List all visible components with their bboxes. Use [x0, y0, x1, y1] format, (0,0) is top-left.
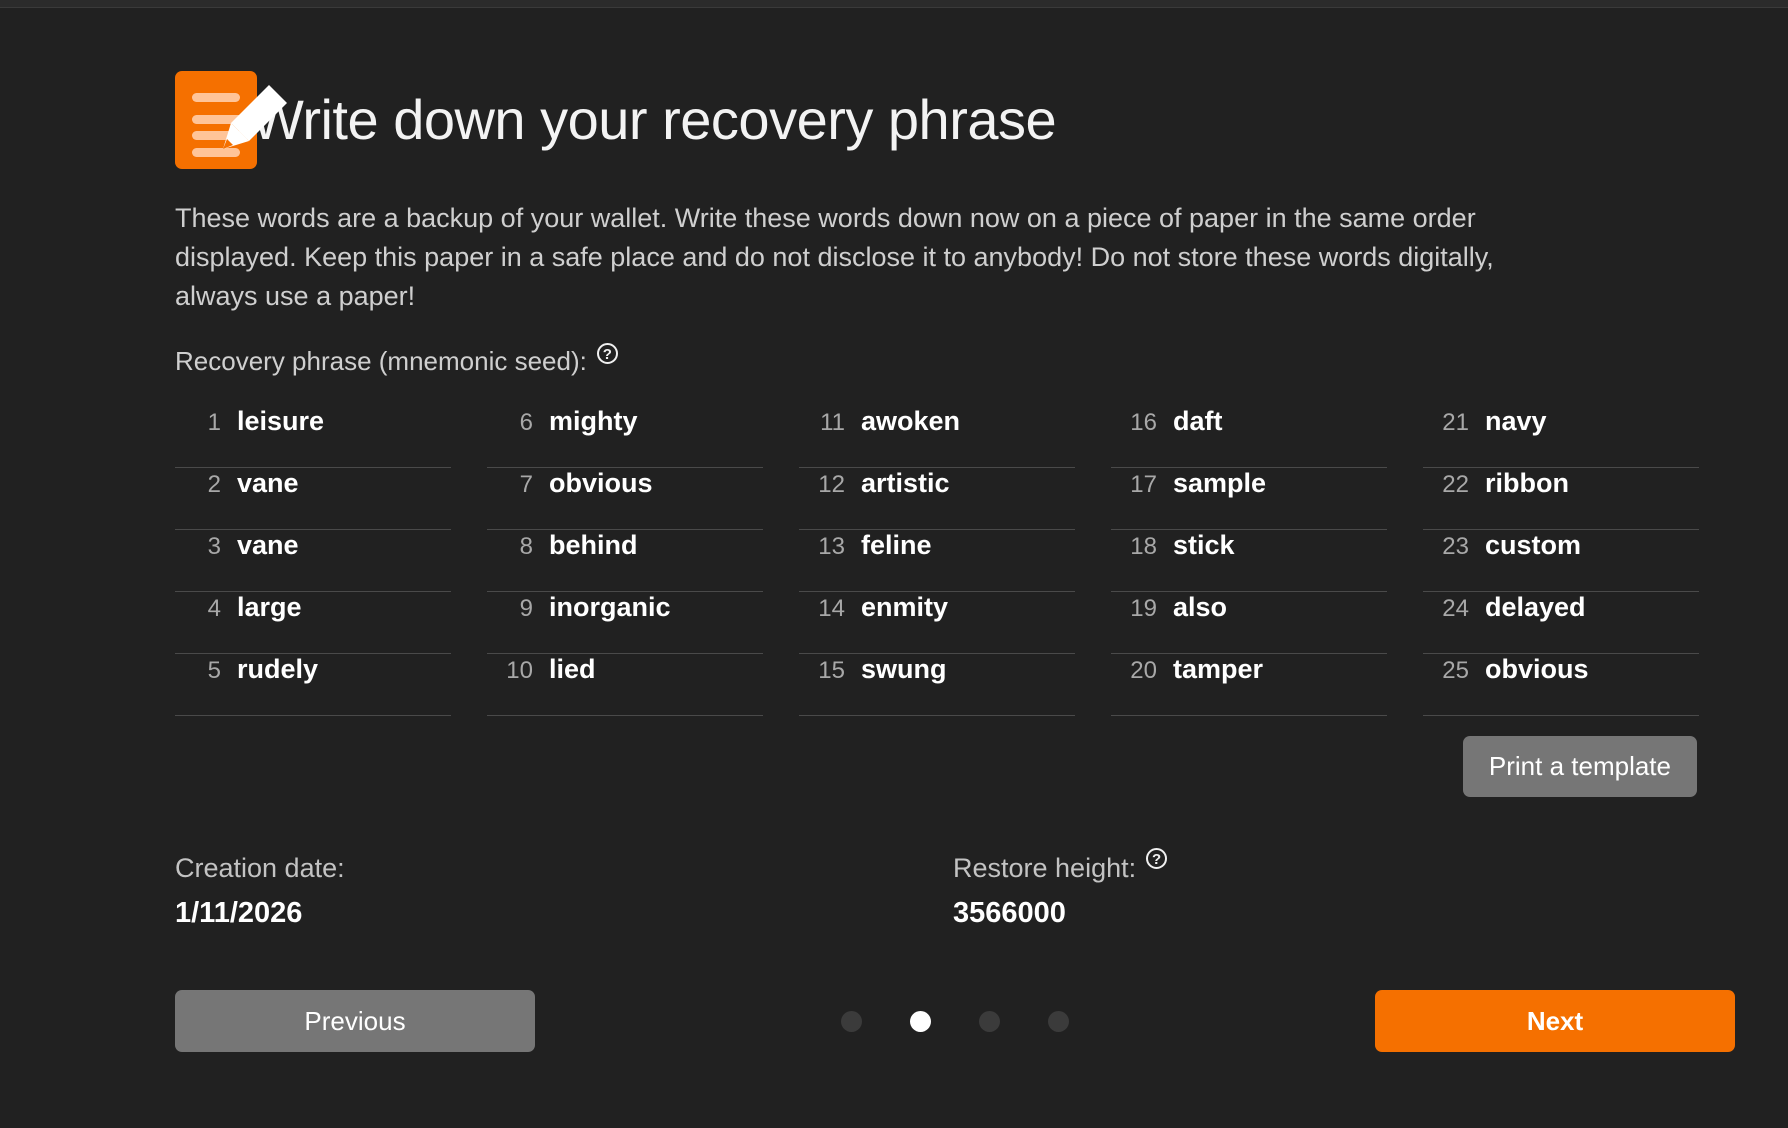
word-value: obvious — [1485, 654, 1589, 685]
pagination-dot-2[interactable] — [910, 1011, 931, 1032]
word-value: lied — [549, 654, 596, 685]
word-value: sample — [1173, 468, 1266, 499]
word-row[interactable]: 3vane — [175, 530, 451, 592]
creation-date-block: Creation date: 1/11/2026 — [175, 851, 953, 930]
word-index: 23 — [1423, 533, 1485, 561]
question-mark-icon[interactable]: ? — [597, 343, 618, 364]
page-description: These words are a backup of your wallet.… — [175, 199, 1575, 316]
word-index: 25 — [1423, 657, 1485, 685]
previous-button[interactable]: Previous — [175, 990, 535, 1052]
pagination-dot-4[interactable] — [1048, 1011, 1069, 1032]
creation-date-value: 1/11/2026 — [175, 897, 953, 930]
word-index: 24 — [1423, 595, 1485, 623]
word-value: mighty — [549, 406, 638, 437]
word-value: artistic — [861, 468, 950, 499]
wallet-metadata: Creation date: 1/11/2026 Restore height:… — [175, 851, 1735, 930]
restore-height-value: 3566000 — [953, 897, 1167, 930]
restore-height-label-row: Restore height: ? — [953, 851, 1167, 885]
word-index: 15 — [799, 657, 861, 685]
word-value: enmity — [861, 592, 948, 623]
word-index: 9 — [487, 595, 549, 623]
word-row[interactable]: 15swung — [799, 654, 1075, 716]
word-index: 2 — [175, 471, 237, 499]
word-index: 16 — [1111, 409, 1173, 437]
word-index: 17 — [1111, 471, 1173, 499]
write-document-icon — [175, 71, 257, 169]
word-row[interactable]: 11awoken — [799, 406, 1075, 468]
page-title: Write down your recovery phrase — [251, 91, 1056, 149]
word-row[interactable]: 10lied — [487, 654, 763, 716]
word-index: 7 — [487, 471, 549, 499]
word-value: inorganic — [549, 592, 671, 623]
word-index: 14 — [799, 595, 861, 623]
word-row[interactable]: 13feline — [799, 530, 1075, 592]
word-index: 19 — [1111, 595, 1173, 623]
wallet-wizard-window: Write down your recovery phrase These wo… — [0, 0, 1788, 1128]
word-index: 18 — [1111, 533, 1173, 561]
word-value: large — [237, 592, 302, 623]
word-row[interactable]: 9inorganic — [487, 592, 763, 654]
word-value: daft — [1173, 406, 1223, 437]
pencil-icon — [219, 83, 289, 155]
word-row[interactable]: 21navy — [1423, 406, 1699, 468]
word-index: 10 — [487, 657, 549, 685]
creation-date-label: Creation date: — [175, 851, 953, 885]
word-row[interactable]: 23custom — [1423, 530, 1699, 592]
word-row[interactable]: 5rudely — [175, 654, 451, 716]
word-value: delayed — [1485, 592, 1586, 623]
word-index: 6 — [487, 409, 549, 437]
print-template-button[interactable]: Print a template — [1463, 736, 1697, 797]
word-row[interactable]: 2vane — [175, 468, 451, 530]
page-header: Write down your recovery phrase — [175, 68, 1735, 172]
word-index: 3 — [175, 533, 237, 561]
word-value: stick — [1173, 530, 1235, 561]
word-row[interactable]: 16daft — [1111, 406, 1387, 468]
word-value: swung — [861, 654, 947, 685]
word-row[interactable]: 24delayed — [1423, 592, 1699, 654]
word-index: 11 — [799, 409, 861, 437]
wizard-footer: Previous Next — [175, 990, 1735, 1052]
word-index: 8 — [487, 533, 549, 561]
pagination-dot-3[interactable] — [979, 1011, 1000, 1032]
word-value: vane — [237, 468, 299, 499]
window-titlebar-strip — [0, 0, 1788, 8]
recovery-phrase-grid: 1leisure 2vane 3vane 4large 5rudely 6mig… — [175, 406, 1735, 716]
word-row[interactable]: 22ribbon — [1423, 468, 1699, 530]
word-row[interactable]: 7obvious — [487, 468, 763, 530]
question-mark-icon[interactable]: ? — [1146, 848, 1167, 869]
word-index: 1 — [175, 409, 237, 437]
page-content: Write down your recovery phrase These wo… — [175, 68, 1735, 1052]
word-column-4: 16daft 17sample 18stick 19also 20tamper — [1111, 406, 1387, 716]
word-row[interactable]: 14enmity — [799, 592, 1075, 654]
pagination-dots — [841, 1011, 1069, 1032]
word-value: leisure — [237, 406, 324, 437]
word-value: awoken — [861, 406, 960, 437]
pagination-dot-1[interactable] — [841, 1011, 862, 1032]
word-value: rudely — [237, 654, 318, 685]
word-index: 4 — [175, 595, 237, 623]
word-index: 12 — [799, 471, 861, 499]
word-column-1: 1leisure 2vane 3vane 4large 5rudely — [175, 406, 451, 716]
word-row[interactable]: 1leisure — [175, 406, 451, 468]
seed-label-row: Recovery phrase (mnemonic seed): ? — [175, 346, 1735, 376]
word-index: 22 — [1423, 471, 1485, 499]
word-value: behind — [549, 530, 638, 561]
word-row[interactable]: 17sample — [1111, 468, 1387, 530]
seed-label: Recovery phrase (mnemonic seed): — [175, 346, 587, 376]
word-value: navy — [1485, 406, 1547, 437]
word-value: feline — [861, 530, 932, 561]
word-index: 21 — [1423, 409, 1485, 437]
word-index: 5 — [175, 657, 237, 685]
word-value: ribbon — [1485, 468, 1569, 499]
word-column-2: 6mighty 7obvious 8behind 9inorganic 10li… — [487, 406, 763, 716]
word-index: 13 — [799, 533, 861, 561]
word-row[interactable]: 19also — [1111, 592, 1387, 654]
restore-height-block: Restore height: ? 3566000 — [953, 851, 1167, 930]
word-row[interactable]: 18stick — [1111, 530, 1387, 592]
word-value: vane — [237, 530, 299, 561]
next-button[interactable]: Next — [1375, 990, 1735, 1052]
word-value: also — [1173, 592, 1227, 623]
word-value: tamper — [1173, 654, 1263, 685]
word-column-5: 21navy 22ribbon 23custom 24delayed 25obv… — [1423, 406, 1699, 716]
word-value: obvious — [549, 468, 653, 499]
recovery-phrase-page: Write down your recovery phrase These wo… — [0, 8, 1788, 1128]
word-row[interactable]: 4large — [175, 592, 451, 654]
word-row[interactable]: 8behind — [487, 530, 763, 592]
word-row[interactable]: 6mighty — [487, 406, 763, 468]
word-row[interactable]: 12artistic — [799, 468, 1075, 530]
print-template-row: Print a template — [175, 736, 1735, 797]
restore-height-label: Restore height: — [953, 851, 1136, 885]
word-row[interactable]: 25obvious — [1423, 654, 1699, 716]
word-index: 20 — [1111, 657, 1173, 685]
word-value: custom — [1485, 530, 1581, 561]
word-column-3: 11awoken 12artistic 13feline 14enmity 15… — [799, 406, 1075, 716]
word-row[interactable]: 20tamper — [1111, 654, 1387, 716]
